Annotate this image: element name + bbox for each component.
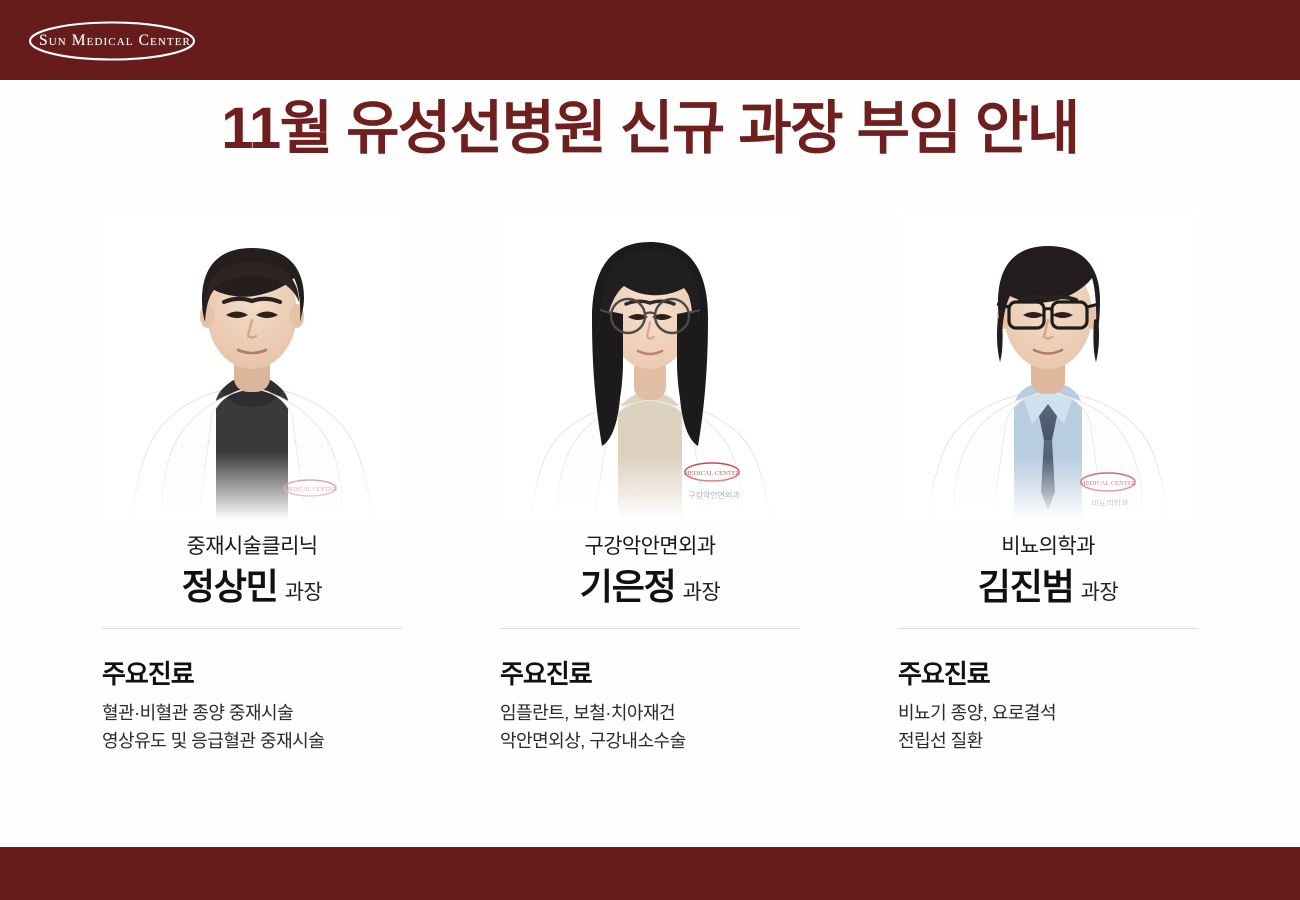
poster-root: Sun Medical Center 11월 유성선병원 신규 과장 부임 안내 — [0, 0, 1300, 900]
footer-bar — [0, 847, 1300, 900]
specialty-item: 악안면외상, 구강내소수술 — [500, 728, 800, 756]
doctor-name: 정상민 — [182, 566, 278, 607]
card-divider — [500, 628, 800, 629]
doctor-nameline: 정상민과장 — [102, 564, 402, 609]
doctor-photo: MEDICAL CENTER 구강악안면외과 — [500, 210, 800, 520]
card-divider — [898, 628, 1198, 629]
specialty-item: 임플란트, 보철·치아재건 — [500, 700, 800, 728]
doctor-nameline: 기은정과장 — [500, 564, 800, 609]
specialty-item: 혈관·비혈관 종양 중재시술 — [102, 700, 402, 728]
specialty-item: 영상유도 및 응급혈관 중재시술 — [102, 728, 402, 756]
specialty-heading: 주요진료 — [500, 654, 800, 691]
doctor-portrait-illustration: MEDICAL CENTER 비뇨의학과 — [898, 210, 1198, 520]
doctor-rank: 과장 — [1081, 581, 1119, 604]
brand-logo-text: Sun Medical Center — [26, 20, 204, 62]
specialty-list: 임플란트, 보철·치아재건 악안면외상, 구강내소수술 — [500, 700, 800, 756]
doctor-nameline: 김진범과장 — [898, 564, 1198, 609]
doctor-card: MEDICAL CENTER 구강악안면외과 구강악안면외과 기은정과장 주요진… — [500, 210, 800, 810]
doctor-department: 비뇨의학과 — [898, 534, 1198, 560]
specialty-heading: 주요진료 — [102, 654, 402, 691]
doctor-portrait-illustration: MEDICAL CENTER — [102, 210, 402, 520]
doctor-card: MEDICAL CENTER 중재시술클리닉 정상민과장 주요진료 혈관·비혈관… — [102, 210, 402, 810]
doctor-rank: 과장 — [285, 581, 323, 604]
specialty-item: 전립선 질환 — [898, 728, 1198, 756]
card-divider — [102, 628, 402, 629]
doctor-name: 김진범 — [978, 566, 1074, 607]
specialty-heading: 주요진료 — [898, 654, 1198, 691]
doctor-department: 중재시술클리닉 — [102, 534, 402, 560]
specialty-list: 혈관·비혈관 종양 중재시술 영상유도 및 응급혈관 중재시술 — [102, 700, 402, 756]
brand-logo: Sun Medical Center — [26, 20, 204, 62]
doctor-card: MEDICAL CENTER 비뇨의학과 비뇨의학과 김진범과장 주요진료 비뇨… — [898, 210, 1198, 810]
header-bar: Sun Medical Center — [0, 0, 1300, 80]
doctor-columns: MEDICAL CENTER 중재시술클리닉 정상민과장 주요진료 혈관·비혈관… — [0, 210, 1300, 810]
specialty-item: 비뇨기 종양, 요로결석 — [898, 700, 1198, 728]
doctor-photo: MEDICAL CENTER — [102, 210, 402, 520]
specialty-list: 비뇨기 종양, 요로결석 전립선 질환 — [898, 700, 1198, 756]
doctor-name: 기은정 — [580, 566, 676, 607]
doctor-department: 구강악안면외과 — [500, 534, 800, 560]
doctor-rank: 과장 — [683, 581, 721, 604]
doctor-portrait-illustration: MEDICAL CENTER 구강악안면외과 — [500, 210, 800, 520]
page-title: 11월 유성선병원 신규 과장 부임 안내 — [0, 96, 1300, 163]
doctor-photo: MEDICAL CENTER 비뇨의학과 — [898, 210, 1198, 520]
